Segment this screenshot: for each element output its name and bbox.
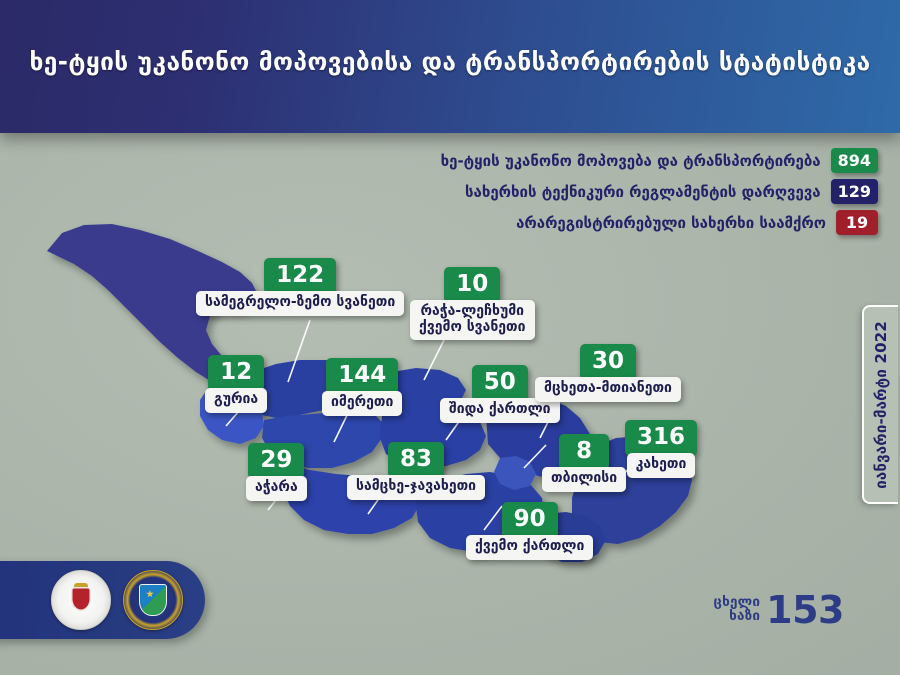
marker-label: მცხეთა-მთიანეთი [535, 377, 681, 402]
legend-label-unregistered-sawmill: არარეგისტრირებული სახერხი საამქრო [516, 214, 826, 232]
marker-value: 50 [472, 365, 528, 401]
map-marker-samtskhe[interactable]: 83 სამცხე-ჯავახეთი [347, 442, 485, 500]
marker-label: თბილისი [542, 467, 626, 492]
map-marker-samegrelo[interactable]: 122 სამეგრელო-ზემო სვანეთი [196, 258, 404, 316]
map-marker-kvemo-kartli[interactable]: 90 ქვემო ქართლი [466, 502, 593, 560]
map-marker-racha[interactable]: 10 რაჭა-ლეჩხუმი ქვემო სვანეთი [410, 267, 535, 340]
hotline: ცხელი ხაზი 153 [714, 593, 845, 627]
marker-value: 29 [248, 443, 304, 479]
marker-value: 12 [208, 355, 264, 391]
hotline-label: ცხელი ხაზი [714, 596, 761, 624]
marker-value: 8 [559, 434, 609, 470]
legend: ხე-ტყის უკანონო მოპოვება და ტრანსპორტირე… [441, 148, 878, 241]
map-marker-tbilisi[interactable]: 8 თბილისი [542, 434, 626, 492]
marker-value: 144 [326, 358, 398, 394]
map-marker-imereti[interactable]: 144 იმერეთი [322, 358, 402, 416]
legend-row: სახერხის ტექნიკური რეგლამენტის დარღვევა … [441, 179, 878, 204]
marker-value: 30 [580, 344, 636, 380]
marker-value: 90 [502, 502, 558, 538]
map-marker-mtskheta[interactable]: 30 მცხეთა-მთიანეთი [535, 344, 681, 402]
legend-badge-illegal-logging: 894 [831, 148, 878, 173]
map-marker-adjara[interactable]: 29 აჭარა [246, 443, 307, 501]
marker-value: 83 [388, 442, 444, 478]
legend-row: ხე-ტყის უკანონო მოპოვება და ტრანსპორტირე… [441, 148, 878, 173]
legend-label-sawmill-violation: სახერხის ტექნიკური რეგლამენტის დარღვევა [465, 183, 821, 201]
marker-value: 122 [264, 258, 336, 294]
map-marker-guria[interactable]: 12 გურია [205, 355, 267, 413]
page-title: ხე-ტყის უკანონო მოპოვებისა და ტრანსპორტი… [0, 47, 900, 76]
infographic-page: ხე-ტყის უკანონო მოპოვებისა და ტრანსპორტი… [0, 0, 900, 675]
environmental-supervision-emblem-icon [123, 570, 183, 630]
marker-label: რაჭა-ლეჩხუმი ქვემო სვანეთი [410, 300, 535, 340]
legend-row: არარეგისტრირებული სახერხი საამქრო 19 [441, 210, 878, 235]
legend-badge-sawmill-violation: 129 [831, 179, 878, 204]
marker-value: 316 [625, 420, 697, 456]
hotline-label-line2: ხაზი [714, 610, 761, 624]
hotline-number: 153 [766, 593, 844, 627]
marker-value: 10 [444, 267, 500, 303]
marker-label: იმერეთი [322, 391, 402, 416]
shield-shape [139, 584, 167, 616]
marker-label: გურია [205, 388, 267, 413]
marker-label: შიდა ქართლი [440, 398, 560, 423]
star-shape [146, 590, 154, 598]
marker-label: ქვემო ქართლი [466, 535, 593, 560]
legend-label-illegal-logging: ხე-ტყის უკანონო მოპოვება და ტრანსპორტირე… [441, 152, 821, 170]
date-range-tab: იანვარი-მარტი 2022 [862, 305, 898, 504]
marker-label: აჭარა [246, 476, 307, 501]
map-marker-kakheti[interactable]: 316 კახეთი [625, 420, 697, 478]
header-band: ხე-ტყის უკანონო მოპოვებისა და ტრანსპორტი… [0, 0, 900, 133]
shield-shape [73, 588, 90, 609]
marker-label: კახეთი [627, 453, 696, 478]
georgia-coat-of-arms-icon [51, 570, 111, 630]
date-range-text: იანვარი-მარტი 2022 [872, 321, 890, 489]
logo-plaque [0, 561, 205, 639]
marker-label: სამეგრელო-ზემო სვანეთი [196, 291, 404, 316]
legend-badge-unregistered-sawmill: 19 [836, 210, 878, 235]
marker-label: სამცხე-ჯავახეთი [347, 475, 485, 500]
